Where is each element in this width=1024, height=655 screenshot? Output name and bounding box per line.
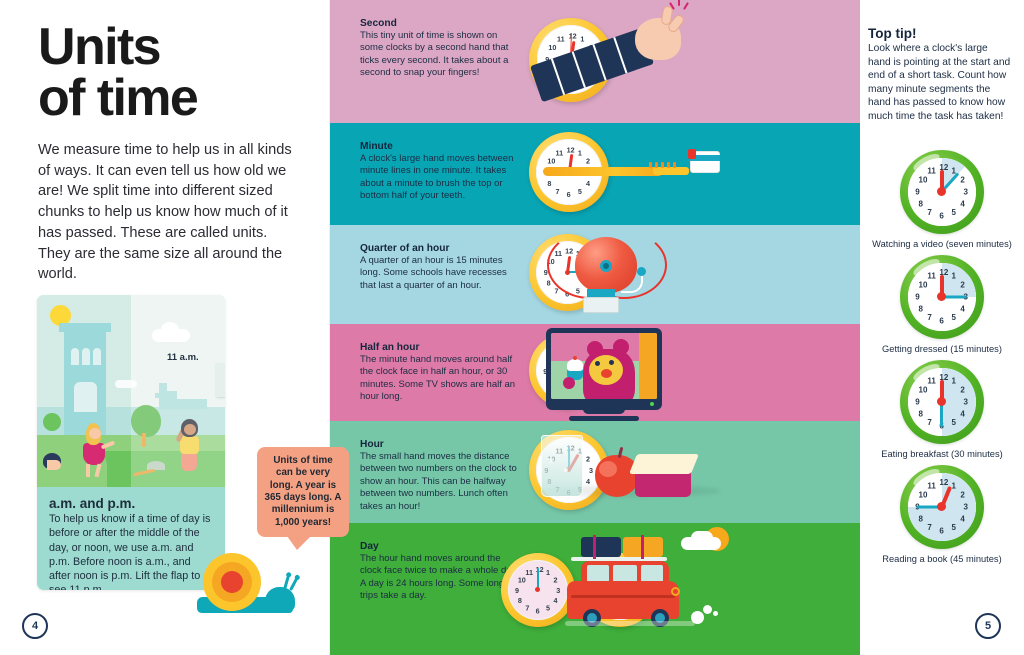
tower-window: [93, 348, 101, 365]
band-body: The small hand moves the distance betwee…: [360, 451, 520, 513]
tip-clock-label: Reading a book (45 minutes): [860, 554, 1024, 564]
clock-face: 123456789101112: [508, 560, 569, 621]
book-spread: Units of time We measure time to help us…: [0, 0, 1024, 655]
band-text: DayThe hour hand moves around the clock …: [360, 523, 520, 603]
clock-face: 123456789101112: [908, 158, 975, 225]
band-body: The hour hand moves around the clock fac…: [360, 553, 520, 603]
page-title: Units of time: [38, 22, 288, 124]
left-page: Units of time We measure time to help us…: [0, 0, 330, 655]
unit-band-quarter-of-an-hour: Quarter of an hourA quarter of an hour i…: [330, 225, 860, 324]
band-heading: Hour: [360, 439, 520, 450]
car-window: [641, 565, 663, 582]
unit-band-half-an-hour: Half an hourThe minute hand moves around…: [330, 324, 860, 421]
band-body: The minute hand moves around half the cl…: [360, 354, 520, 404]
ruin-step: [177, 399, 207, 409]
clock-face: 123456789101112: [908, 263, 975, 330]
tv-screen: [551, 333, 657, 399]
band-heading: Quarter of an hour: [360, 243, 520, 254]
top-tip-body: Look where a clock's large hand is point…: [868, 42, 1013, 123]
ruin-step: [167, 391, 177, 409]
luggage: [581, 537, 621, 557]
apple-icon: [595, 455, 639, 497]
ruin-step: [155, 393, 160, 398]
ampm-illustration: 11 a.m.: [37, 295, 225, 487]
tip-clock-item: 123456789101112Eating breakfast (30 minu…: [860, 360, 1024, 459]
unit-band-minute: MinuteA clock's large hand moves between…: [330, 123, 860, 225]
page-title-line-2: of time: [38, 73, 288, 124]
tower-window: [74, 382, 97, 412]
band-illustration: 123456789101112: [525, 0, 860, 123]
glass-of-water: [541, 435, 583, 497]
car-window: [587, 565, 609, 582]
clock-face: 123456789101112: [908, 473, 975, 540]
tower-window: [71, 348, 79, 365]
clock-face: 123456789101112: [908, 368, 975, 435]
tip-clock-label: Watching a video (seven minutes): [860, 239, 1024, 249]
bell-base: [583, 297, 619, 313]
television-icon: [546, 328, 662, 410]
units-band-column: SecondThis tiny unit of time is shown on…: [330, 0, 860, 655]
cloud-icon: [152, 329, 190, 342]
band-heading: Day: [360, 541, 520, 552]
cloud-icon: [115, 380, 137, 388]
page-title-line-1: Units: [38, 22, 288, 73]
band-illustration: 123456789101112: [525, 324, 860, 421]
band-body: A clock's large hand moves between minut…: [360, 153, 520, 203]
speech-bubble: Units of time can be very long. A year i…: [257, 447, 349, 537]
analogue-clock: 123456789101112: [501, 553, 575, 627]
car-window: [613, 565, 637, 582]
band-text: Quarter of an hourA quarter of an hour i…: [360, 225, 520, 292]
tip-analogue-clock: 123456789101112: [900, 150, 984, 234]
toothbrush-head: [653, 167, 689, 175]
band-illustration: 123456789101112: [525, 123, 860, 225]
band-heading: Minute: [360, 141, 520, 152]
tower-window: [82, 348, 90, 365]
band-text: SecondThis tiny unit of time is shown on…: [360, 0, 520, 80]
band-heading: Second: [360, 18, 520, 29]
tip-analogue-clock: 123456789101112: [900, 360, 984, 444]
right-page: Top tip! Look where a clock's large hand…: [860, 0, 1024, 655]
band-text: MinuteA clock's large hand moves between…: [360, 123, 520, 203]
page-number-right: 5: [975, 613, 1001, 639]
toothbrush-handle: [543, 167, 663, 176]
top-tip-heading: Top tip!: [868, 26, 916, 41]
unit-band-day: DayThe hour hand moves around the clock …: [330, 523, 860, 655]
tip-clock-item: 123456789101112Watching a video (seven m…: [860, 150, 1024, 249]
lunch-box-lid: [629, 454, 699, 474]
tip-clock-label: Eating breakfast (30 minutes): [860, 449, 1024, 459]
page-number-left-value: 4: [22, 613, 48, 639]
tip-clock-label: Getting dressed (15 minutes): [860, 344, 1024, 354]
page-number-right-value: 5: [975, 613, 1001, 639]
ruin-step: [159, 383, 167, 409]
flap-tab[interactable]: [215, 363, 225, 397]
band-text: HourThe small hand moves the distance be…: [360, 421, 520, 513]
band-heading: Half an hour: [360, 342, 520, 353]
tube-cap: [688, 149, 696, 159]
scene-time-label: 11 a.m.: [167, 352, 199, 363]
page-number-left: 4: [22, 613, 48, 639]
band-text: Half an hourThe minute hand moves around…: [360, 324, 520, 404]
tip-clock-item: 123456789101112Reading a book (45 minute…: [860, 465, 1024, 564]
ampm-heading: a.m. and p.m.: [49, 496, 213, 511]
unit-band-second: SecondThis tiny unit of time is shown on…: [330, 0, 860, 123]
snail-illustration: [193, 545, 313, 615]
tree-icon: [131, 405, 161, 437]
unit-band-hour: HourThe small hand moves the distance be…: [330, 421, 860, 523]
band-illustration: 123456789101112123456789101112: [505, 523, 860, 655]
band-illustration: 123456789101112: [525, 421, 860, 523]
tip-clock-item: 123456789101112Getting dressed (15 minut…: [860, 255, 1024, 354]
band-body: A quarter of an hour is 15 minutes long.…: [360, 255, 520, 292]
intro-paragraph: We measure time to help us in all kinds …: [38, 140, 296, 285]
band-illustration: 123456789101112: [525, 225, 860, 324]
tree-icon: [43, 413, 61, 431]
tip-analogue-clock: 123456789101112: [900, 255, 984, 339]
ampm-body: To help us know if a time of day is befo…: [49, 512, 213, 590]
band-body: This tiny unit of time is shown on some …: [360, 30, 520, 80]
tip-analogue-clock: 123456789101112: [900, 465, 984, 549]
